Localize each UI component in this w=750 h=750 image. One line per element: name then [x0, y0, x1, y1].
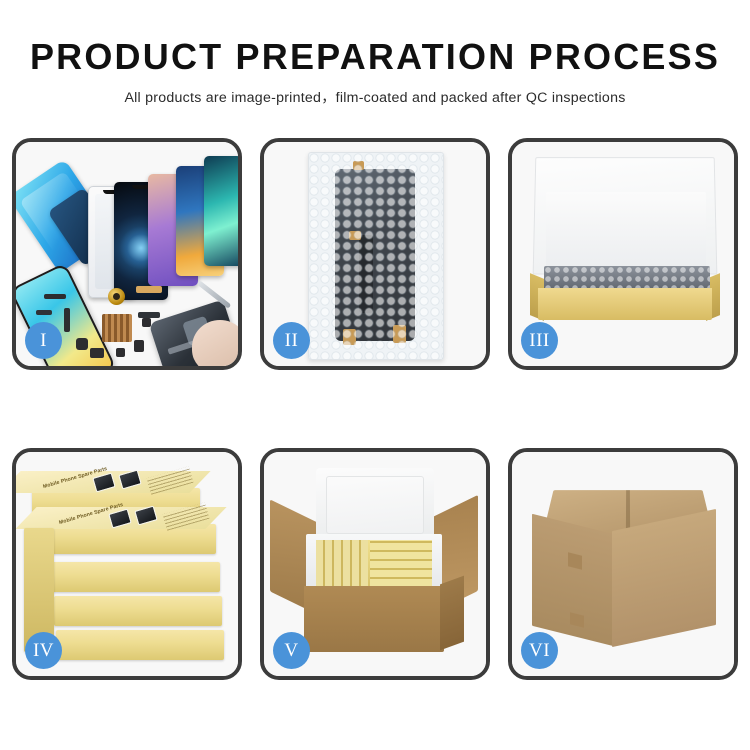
coil-component-icon	[108, 288, 125, 305]
carton-right-face	[612, 509, 716, 647]
retail-box: Mobile Phone Spare Parts	[48, 524, 216, 554]
carton-left-face	[532, 514, 614, 646]
component-chip	[44, 294, 66, 299]
sealed-carton	[526, 480, 722, 640]
step-badge-4: IV	[25, 632, 62, 669]
step-badge-3: III	[521, 322, 558, 359]
component-chip	[90, 348, 104, 358]
preparation-process-page: PRODUCT PREPARATION PROCESS All products…	[0, 0, 750, 750]
step-1-illustration: I	[16, 142, 238, 366]
component-chip	[134, 340, 144, 352]
page-header: PRODUCT PREPARATION PROCESS All products…	[0, 0, 750, 107]
step-2-illustration: II	[264, 142, 486, 366]
inner-box-front	[538, 288, 712, 320]
component-chip	[64, 308, 70, 332]
step-4-illustration: Mobile Phone Spare Parts Mobile Phone Sp…	[16, 452, 238, 676]
flex-cable	[138, 312, 160, 318]
component-chip	[76, 338, 88, 350]
bubble-texture	[309, 153, 443, 359]
carton-front-face	[304, 586, 444, 652]
step-5-illustration: V	[264, 452, 486, 676]
foam-box-lid	[316, 468, 434, 542]
process-step-panel-3: III	[508, 138, 738, 370]
step-6-illustration: VI	[512, 452, 734, 676]
step-badge-1: I	[25, 322, 62, 359]
component-chip	[116, 348, 125, 357]
screw-tray-icon	[102, 314, 132, 342]
process-step-panel-6: VI	[508, 448, 738, 680]
carton-side-face	[440, 576, 464, 651]
step-3-illustration: III	[512, 142, 734, 366]
retail-box	[52, 562, 220, 592]
packed-yellow-boxes	[316, 540, 432, 586]
yellow-box-group-left	[316, 540, 368, 586]
process-step-panel-2: II	[260, 138, 490, 370]
yellow-box-group-right	[370, 540, 432, 586]
step-badge-2: II	[273, 322, 310, 359]
process-step-grid: I II	[12, 138, 738, 680]
step-badge-5: V	[273, 632, 310, 669]
bubble-wrap-bag	[308, 152, 444, 360]
process-step-panel-1: I	[12, 138, 242, 370]
foam-sheet	[546, 192, 706, 268]
step-badge-6: VI	[521, 632, 558, 669]
flex-cable	[136, 286, 162, 293]
process-step-panel-5: V	[260, 448, 490, 680]
page-subtitle: All products are image-printed，film-coat…	[0, 87, 750, 107]
retail-box	[56, 630, 224, 660]
retail-box	[54, 596, 222, 626]
phone-display-teal	[204, 156, 238, 266]
process-step-panel-4: Mobile Phone Spare Parts Mobile Phone Sp…	[12, 448, 242, 680]
flex-cable	[36, 310, 52, 315]
page-title: PRODUCT PREPARATION PROCESS	[0, 38, 750, 76]
component-chip	[142, 318, 151, 327]
